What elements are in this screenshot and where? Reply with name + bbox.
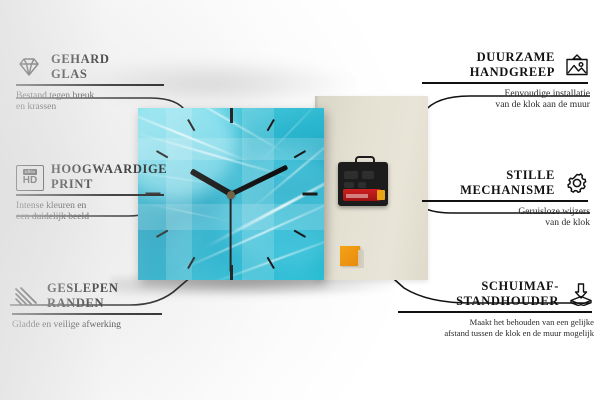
callout-rule [16,194,164,196]
callout-description: Eenvoudige installatievan de klok aan de… [422,88,590,111]
callout-rule [398,311,592,313]
mechanism-hanging-hook [355,156,375,168]
callout-gehard-glas: GEHARDGLAS Bestand tegen breuken krassen [16,52,166,113]
callout-title: DUURZAMEHANDGREEP [470,50,555,79]
callout-description: Maakt het behouden van een gelijkeafstan… [398,317,594,340]
callout-rule [422,200,588,202]
callout-geslepen-randen: GESLEPENRANDEN Gladde en veilige afwerki… [12,281,164,330]
clock-tick-3 [303,193,318,196]
callout-title: SCHUIMAF-STANDHOUDER [456,279,559,308]
picture-frame-icon [564,53,590,77]
callout-title: STILLEMECHANISME [460,168,555,197]
ultra-hd-icon: ultra HD [16,165,42,189]
callout-duurzame-handgreep: DUURZAMEHANDGREEP Eenvoudige installatie… [422,50,590,111]
clock-mechanism [338,162,388,206]
callout-description: Gladde en veilige afwerking [12,319,164,331]
callout-title: HOOGWAARDIGEPRINT [51,162,167,191]
callout-stille-mechanisme: STILLEMECHANISME Geruisloze wijzersvan d… [422,168,590,229]
callout-hoogwaardige-print: ultra HD HOOGWAARDIGEPRINT Intense kleur… [16,162,166,223]
diagonal-lines-icon [12,284,38,308]
clock-second-hand [230,194,232,272]
callout-rule [422,82,588,84]
callout-schuimaf-standhouder: SCHUIMAF-STANDHOUDER Maakt het behouden … [398,279,594,340]
product-group [138,96,428,286]
callout-rule [16,84,164,86]
callout-title: GESLEPENRANDEN [47,281,119,310]
foam-spacer [340,246,360,266]
clock-tick-12 [230,108,233,123]
product-infographic: GEHARDGLAS Bestand tegen breuken krassen… [0,0,600,400]
diamond-icon [16,55,42,79]
callout-title: GEHARDGLAS [51,52,109,81]
callout-description: Geruisloze wijzersvan de klok [422,206,590,229]
clock-center-cap [227,191,235,199]
spacer-arrow-icon [568,282,594,306]
callout-rule [12,313,162,315]
callout-description: Bestand tegen breuken krassen [16,90,166,113]
gear-icon [564,171,590,195]
callout-description: Intense kleuren eneen duidelijk beeld [16,200,166,223]
